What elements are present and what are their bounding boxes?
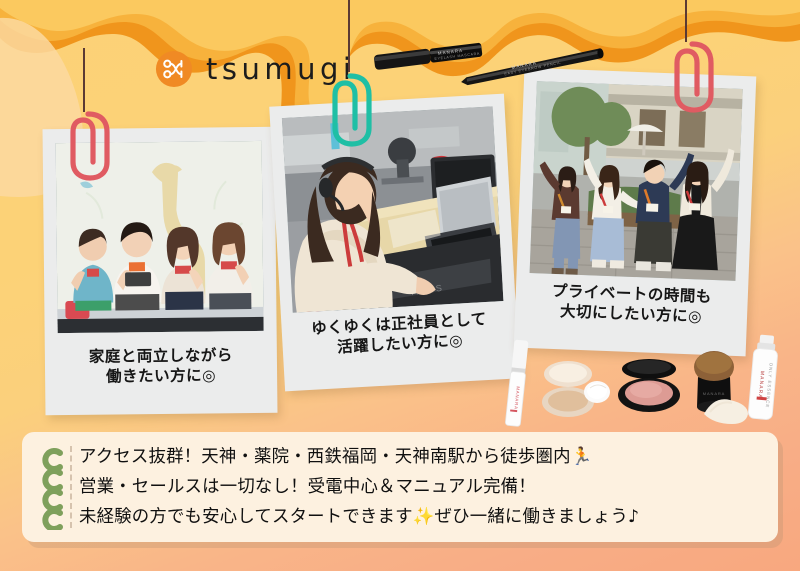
photo-caption: 家庭と両立しながら 働きたい方に◎	[45, 345, 277, 388]
photo-card-headset-operator: ASUS	[269, 94, 520, 392]
cream-swatch	[700, 392, 752, 433]
photo-headset-operator: ASUS	[282, 106, 504, 312]
hanging-string-left	[83, 48, 85, 112]
recruitment-poster: tsumugi MANARA EYELASH MASCARA MANARA EA…	[0, 0, 800, 571]
blush-compact	[613, 355, 685, 422]
paperclip-right	[666, 36, 718, 121]
photo-caption: プライベートの時間も 大切にしたい方に◎	[515, 279, 748, 329]
powder-compact	[538, 358, 616, 429]
tsumugi-knot-icon	[155, 50, 193, 88]
hanging-string-middle	[348, 0, 350, 72]
note-text-block: アクセス抜群！天神・薬院・西鉄福岡・天神南駅から徒歩圏内🏃 営業・セールスは一切…	[79, 445, 764, 529]
photo-caption: ゆくゆくは正社員として 活躍したい方に◎	[281, 307, 518, 361]
perforation-line	[70, 446, 72, 528]
note-line-1: アクセス抜群！天神・薬院・西鉄福岡・天神南駅から徒歩圏内🏃	[79, 443, 764, 471]
note-line-2: 営業・セールスは一切なし！受電中心＆マニュアル完備！	[79, 473, 764, 501]
note-line-3: 未経験の方でも安心してスタートできます✨ぜひ一緒に働きましょう♪	[79, 503, 764, 531]
paperclip-middle	[324, 68, 376, 155]
paperclip-left	[62, 106, 114, 187]
photo-card-team-outdoors: プライベートの時間も 大切にしたい方に◎	[514, 68, 757, 357]
info-note-card: アクセス抜群！天神・薬院・西鉄福岡・天神南駅から徒歩圏内🏃 営業・セールスは一切…	[22, 432, 778, 542]
spiral-rings	[34, 446, 68, 530]
eyebrow-pencil: MANARA EASY EYEBROW PENCIL	[452, 48, 612, 95]
lip-stick-tube: MANARA	[497, 336, 537, 437]
